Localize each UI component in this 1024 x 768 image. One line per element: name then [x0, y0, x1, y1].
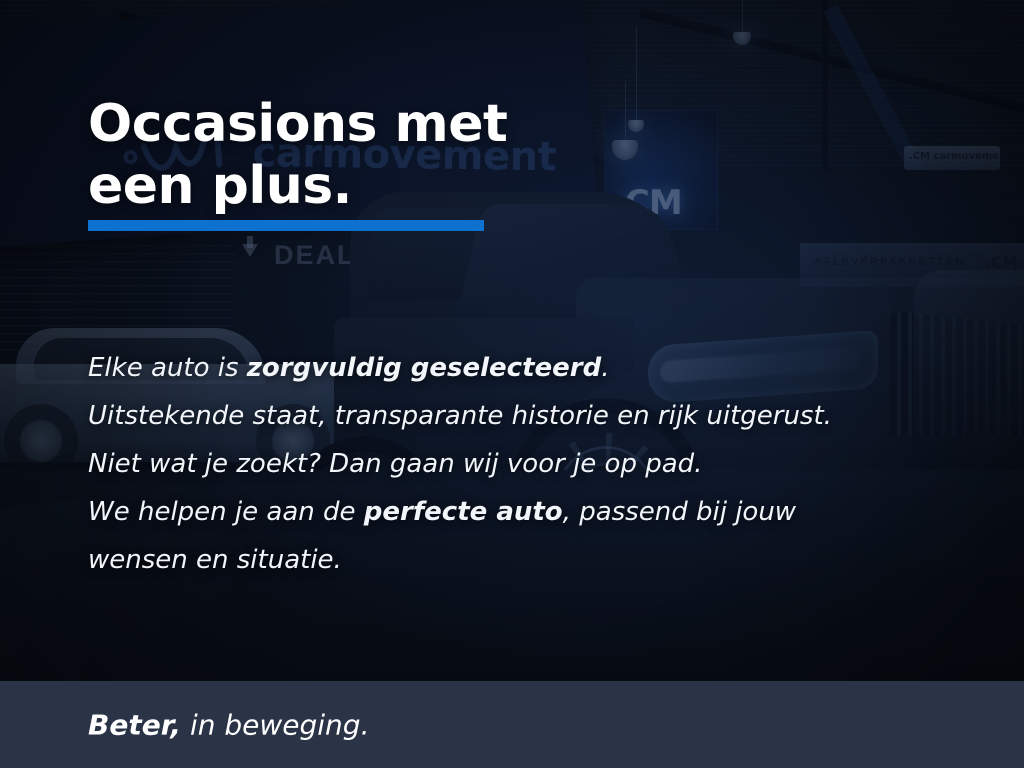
body-line-4: We helpen je aan de perfecte auto, passe… [88, 488, 948, 536]
body-line-2-text: Uitstekende staat, transparante historie… [88, 401, 832, 431]
slide-content: Occasions met een plus. Elke auto is zor… [0, 0, 1024, 768]
blue-divider [88, 220, 484, 231]
page-title: Occasions met een plus. [88, 93, 507, 217]
body-line-5-text: wensen en situatie. [88, 545, 342, 575]
body-line-1-part-a: Elke auto is [88, 353, 247, 383]
body-line-1-emphasis: zorgvuldig geselecteerd [247, 353, 601, 383]
marketing-slide: .CM carmovement [0, 0, 1024, 768]
footer-bar: Beter, in beweging. [0, 681, 1024, 768]
body-line-1-part-c: . [601, 353, 609, 383]
footer-tagline: Beter, in beweging. [88, 708, 369, 741]
body-copy: Elke auto is zorgvuldig geselecteerd. Ui… [88, 344, 948, 584]
footer-tagline-bold: Beter, [88, 708, 181, 741]
footer-tagline-rest: in beweging. [181, 708, 369, 741]
body-line-4-part-a: We helpen je aan de [88, 497, 364, 527]
body-line-4-part-c: , passend bij jouw [563, 497, 796, 527]
body-line-1: Elke auto is zorgvuldig geselecteerd. [88, 344, 948, 392]
body-line-2: Uitstekende staat, transparante historie… [88, 392, 948, 440]
body-line-3-text: Niet wat je zoekt? Dan gaan wij voor je … [88, 449, 702, 479]
body-line-4-emphasis: perfecte auto [364, 497, 563, 527]
body-line-3: Niet wat je zoekt? Dan gaan wij voor je … [88, 440, 948, 488]
body-line-5: wensen en situatie. [88, 536, 948, 584]
